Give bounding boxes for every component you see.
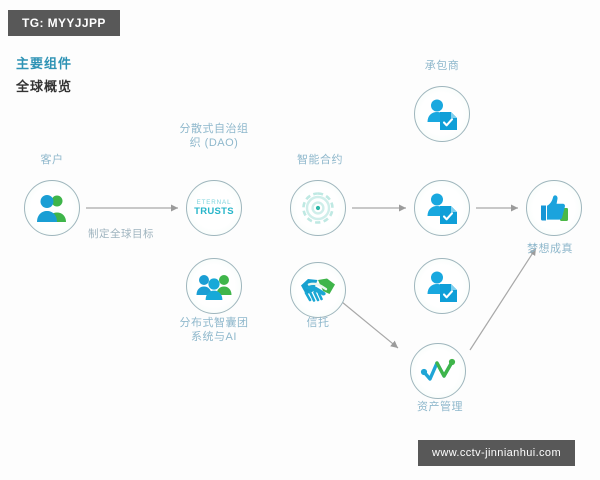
node-label-think-tank: 分布式智囊团 系统与AI [156,316,272,344]
handshake-icon [300,276,336,304]
watermark-bottom-url: www.cctv-jinnianhui.com [418,440,575,466]
node-customer[interactable] [24,180,80,236]
eternal-trusts-logo: ETERNAL TRUSTS [194,200,234,217]
person-document-icon [425,270,459,302]
page-title: 主要组件 [16,53,72,72]
node-label-dream-come-true: 梦想成真 [514,242,586,256]
node-label-dao: 分散式自治组 织 (DAO) [164,122,264,150]
line-chart-icon [420,358,456,384]
node-dream-come-true[interactable] [526,180,582,236]
node-asset-management[interactable] [410,343,466,399]
node-trust[interactable] [290,262,346,318]
node-label-asset-management: 资产管理 [398,400,482,414]
node-contractor-2[interactable] [414,180,470,236]
two-people-icon [35,193,69,223]
edge-asset-to-dream [470,248,536,350]
node-label-smart-contract: 智能合约 [280,153,360,167]
node-think-tank[interactable] [186,258,242,314]
page-subtitle: 全球概览 [16,76,72,95]
node-contractor-3[interactable] [414,258,470,314]
three-people-icon [196,271,232,301]
node-label-trust: 信托 [290,316,346,330]
node-dao[interactable]: ETERNAL TRUSTS [186,180,242,236]
node-label-contractor: 承包商 [410,59,474,73]
edge-label-set-global-goal: 制定全球目标 [88,226,154,241]
node-contractor[interactable] [414,86,470,142]
edge-trust-to-asset [342,302,398,348]
person-document-icon [425,192,459,224]
thumbs-up-icon [537,192,571,224]
person-document-icon [425,98,459,130]
gear-icon [300,190,336,226]
watermark-top-badge: TG: MYYJJPP [8,10,120,36]
node-smart-contract[interactable] [290,180,346,236]
node-label-customer: 客户 [22,153,82,167]
